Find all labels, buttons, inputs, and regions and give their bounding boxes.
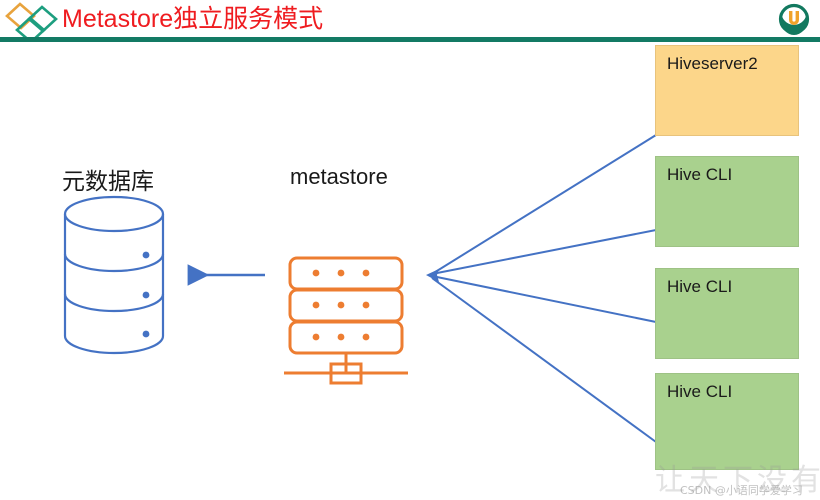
client-node-hive-cli-1[interactable]: Hive CLI bbox=[655, 156, 799, 247]
database-cylinder-icon bbox=[65, 197, 163, 353]
diagram-canvas: 元数据库 metastore Hiveserver2 Hive CLI Hive… bbox=[0, 42, 820, 500]
server-rack-icon bbox=[284, 258, 408, 383]
client-node-label: Hive CLI bbox=[667, 382, 732, 401]
double-diamond-logo-icon bbox=[4, 1, 62, 41]
metastore-caption: metastore bbox=[290, 164, 388, 190]
client-node-label: Hive CLI bbox=[667, 165, 732, 184]
page-title: Metastore独立服务模式 bbox=[62, 2, 323, 36]
client-node-label: Hiveserver2 bbox=[667, 54, 758, 73]
database-caption: 元数据库 bbox=[62, 162, 154, 196]
client-node-hiveserver2[interactable]: Hiveserver2 bbox=[655, 45, 799, 136]
client-node-hive-cli-2[interactable]: Hive CLI bbox=[655, 268, 799, 359]
slide-header: Metastore独立服务模式 bbox=[0, 0, 820, 42]
watermark-text-small: CSDN @小语同学爱学习 bbox=[680, 482, 803, 498]
u-circle-logo-icon bbox=[778, 3, 810, 35]
client-node-label: Hive CLI bbox=[667, 277, 732, 296]
slide-canvas: Metastore独立服务模式 bbox=[0, 0, 820, 500]
